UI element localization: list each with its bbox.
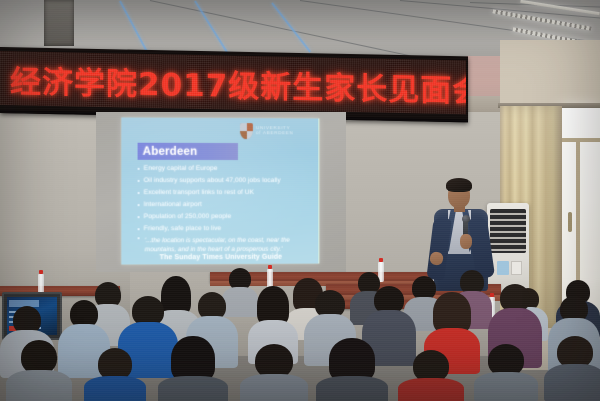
slide-bullet-list: Energy capital of Europe Oil industry su… [138,164,314,237]
bullet-text: Friendly, safe place to live [144,224,222,235]
bullet-text: International airport [144,200,202,211]
presenter-hand-right [460,234,472,249]
audience-member [6,340,72,401]
water-bottle [38,274,44,294]
ac-label [511,261,522,275]
bullet-text: Oil industry supports about 47,000 jobs … [144,176,281,187]
slide-edge [318,118,319,263]
crest-line-2: of ABERDEEN [256,131,294,136]
audience-member [158,336,228,401]
slide-title: Aberdeen [143,144,198,160]
bullet-dot-icon [138,204,140,206]
list-item: Oil industry supports about 47,000 jobs … [138,176,314,187]
bullet-dot-icon [138,192,140,194]
bullet-dot-icon [138,168,140,170]
slide-quote: '...the location is spectacular, on the … [138,236,310,255]
audience-member [84,348,146,401]
quote-text: '...the location is spectacular, on the … [145,236,310,255]
list-item: Excellent transport links to rest of UK [138,188,314,199]
university-of-aberdeen-crest-icon: UNIVERSITY of ABERDEEN [240,121,302,141]
list-item: Energy capital of Europe [138,164,314,175]
led-banner-text: 经济学院2017级新生家长见面会 [10,51,460,114]
audience-member [398,350,464,401]
audience-member [544,336,600,401]
list-item: Friendly, safe place to live [138,224,314,235]
bullet-text: Excellent transport links to rest of UK [144,188,254,199]
audience-member [474,344,538,401]
slide-attribution: The Sunday Times University Guide [121,254,319,262]
bullet-text: Population of 250,000 people [144,212,232,223]
bullet-dot-icon [138,217,140,219]
led-panel: 经济学院2017级新生家长见面会 [0,51,466,114]
bullet-dot-icon [138,180,140,182]
audience-member [316,338,388,401]
lecture-hall-photo: 经济学院2017级新生家长见面会 UNIVERSITY of ABERDEEN [0,0,600,401]
list-item: Population of 250,000 people [138,212,314,223]
audience-member [240,344,308,401]
bullet-dot-icon [138,237,140,239]
list-item: International airport [138,200,314,211]
glasses-icon [448,190,470,195]
window-frame-top [560,138,600,142]
projected-slide: UNIVERSITY of ABERDEEN Aberdeen Energy c… [121,118,319,265]
shield-icon [240,123,253,139]
window-handle [568,212,572,232]
bullet-text: Energy capital of Europe [144,164,218,175]
bullet-dot-icon [138,229,140,231]
